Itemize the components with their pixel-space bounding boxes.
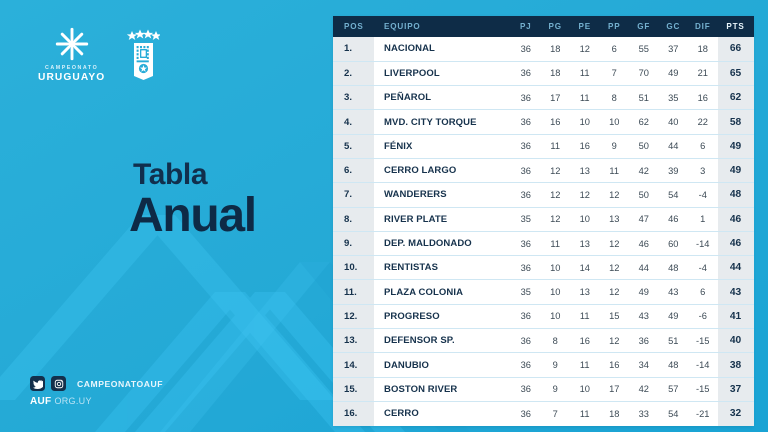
cell-gc: 49 <box>659 61 689 85</box>
table-header-row: POS EQUIPO PJ PG PE PP GF GC DIF PTS <box>333 16 754 37</box>
page-title: Tabla Anual <box>133 160 256 240</box>
cell-gc: 40 <box>659 110 689 134</box>
cell-pe: 13 <box>570 280 600 304</box>
column-header-pp[interactable]: PP <box>600 16 630 37</box>
cell-team: DEP. MALDONADO <box>374 231 511 255</box>
table-row[interactable]: 16.CERRO36711183354-2132 <box>333 401 754 425</box>
cell-pts: 43 <box>718 280 754 304</box>
cell-dif: -14 <box>688 231 718 255</box>
cell-pg: 12 <box>541 207 571 231</box>
footer: CAMPEONATOAUF AUF ORG.UY <box>30 376 163 407</box>
social-row: CAMPEONATOAUF <box>30 376 163 391</box>
cell-pp: 12 <box>600 231 630 255</box>
cell-team: LIVERPOOL <box>374 61 511 85</box>
cell-pos: 13. <box>333 329 374 353</box>
uruguayo-label: URUGUAYO <box>38 72 105 83</box>
cell-pe: 10 <box>570 110 600 134</box>
cell-gc: 35 <box>659 86 689 110</box>
cell-pts: 58 <box>718 110 754 134</box>
table-row[interactable]: 1.NACIONAL361812655371866 <box>333 37 754 61</box>
cell-gc: 46 <box>659 207 689 231</box>
cell-pos: 9. <box>333 231 374 255</box>
cell-gc: 39 <box>659 158 689 182</box>
cell-pos: 2. <box>333 61 374 85</box>
cell-pg: 12 <box>541 158 571 182</box>
cell-gf: 33 <box>629 401 659 425</box>
cell-team: PEÑAROL <box>374 86 511 110</box>
cell-pos: 8. <box>333 207 374 231</box>
cell-team: MVD. CITY TORQUE <box>374 110 511 134</box>
cell-gf: 42 <box>629 158 659 182</box>
table-row[interactable]: 10.RENTISTAS361014124448-444 <box>333 256 754 280</box>
cell-pe: 16 <box>570 329 600 353</box>
table-row[interactable]: 6.CERRO LARGO361213114239349 <box>333 158 754 182</box>
social-handle: CAMPEONATOAUF <box>77 379 163 389</box>
cell-pe: 11 <box>570 304 600 328</box>
cell-gf: 50 <box>629 183 659 207</box>
cell-pe: 10 <box>570 377 600 401</box>
cell-gc: 48 <box>659 256 689 280</box>
cell-pj: 36 <box>511 377 541 401</box>
cell-pos: 1. <box>333 37 374 61</box>
cell-pj: 36 <box>511 353 541 377</box>
cell-pp: 9 <box>600 134 630 158</box>
cell-team: CERRO LARGO <box>374 158 511 182</box>
cell-pts: 49 <box>718 134 754 158</box>
cell-gc: 44 <box>659 134 689 158</box>
cell-pg: 7 <box>541 401 571 425</box>
cell-team: DANUBIO <box>374 353 511 377</box>
cell-gf: 70 <box>629 61 659 85</box>
cell-pj: 36 <box>511 256 541 280</box>
cell-pos: 4. <box>333 110 374 134</box>
table-row[interactable]: 8.RIVER PLATE351210134746146 <box>333 207 754 231</box>
cell-pp: 16 <box>600 353 630 377</box>
column-header-dif[interactable]: DIF <box>688 16 718 37</box>
table-body: 1.NACIONAL3618126553718662.LIVERPOOL3618… <box>333 37 754 426</box>
cell-pg: 9 <box>541 377 571 401</box>
cell-pp: 18 <box>600 401 630 425</box>
cell-pts: 41 <box>718 304 754 328</box>
cell-team: CERRO <box>374 401 511 425</box>
website-row: AUF ORG.UY <box>30 396 163 407</box>
table-row[interactable]: 14.DANUBIO36911163448-1438 <box>333 353 754 377</box>
cell-dif: 22 <box>688 110 718 134</box>
cell-pp: 17 <box>600 377 630 401</box>
cell-pj: 36 <box>511 183 541 207</box>
cell-pg: 18 <box>541 61 571 85</box>
cell-dif: 3 <box>688 158 718 182</box>
cell-pg: 10 <box>541 280 571 304</box>
cell-dif: -14 <box>688 353 718 377</box>
cell-dif: 6 <box>688 280 718 304</box>
cell-pos: 5. <box>333 134 374 158</box>
cell-pe: 10 <box>570 207 600 231</box>
title-line-2: Anual <box>129 192 256 240</box>
cell-pe: 12 <box>570 37 600 61</box>
cell-pts: 32 <box>718 401 754 425</box>
cell-gc: 48 <box>659 353 689 377</box>
cell-pj: 36 <box>511 304 541 328</box>
cell-pts: 37 <box>718 377 754 401</box>
cell-pos: 10. <box>333 256 374 280</box>
column-header-gc[interactable]: GC <box>659 16 689 37</box>
column-header-pj[interactable]: PJ <box>511 16 541 37</box>
cell-pj: 35 <box>511 207 541 231</box>
cell-pts: 40 <box>718 329 754 353</box>
column-header-pe[interactable]: PE <box>570 16 600 37</box>
cell-gf: 62 <box>629 110 659 134</box>
cell-gc: 54 <box>659 183 689 207</box>
cell-dif: 6 <box>688 134 718 158</box>
cell-pj: 36 <box>511 110 541 134</box>
starburst-sun-icon <box>55 27 89 61</box>
cell-team: BOSTON RIVER <box>374 377 511 401</box>
column-header-equipo[interactable]: EQUIPO <box>374 16 511 37</box>
cell-team: RENTISTAS <box>374 256 511 280</box>
cell-pts: 38 <box>718 353 754 377</box>
table-row[interactable]: 9.DEP. MALDONADO361113124660-1446 <box>333 231 754 255</box>
cell-dif: 18 <box>688 37 718 61</box>
cell-gf: 44 <box>629 256 659 280</box>
cell-pg: 12 <box>541 183 571 207</box>
table-row[interactable]: 5.FÉNIX36111695044649 <box>333 134 754 158</box>
table-row[interactable]: 13.DEFENSOR SP.36816123651-1540 <box>333 329 754 353</box>
cell-pp: 12 <box>600 183 630 207</box>
cell-gf: 50 <box>629 134 659 158</box>
cell-pts: 46 <box>718 207 754 231</box>
cell-pj: 36 <box>511 86 541 110</box>
cell-gf: 36 <box>629 329 659 353</box>
campeonato-uruguayo-logo: CAMPEONATO URUGUAYO <box>38 27 105 83</box>
cell-gf: 46 <box>629 231 659 255</box>
table-row[interactable]: 4.MVD. CITY TORQUE3616101062402258 <box>333 110 754 134</box>
cell-team: WANDERERS <box>374 183 511 207</box>
cell-gc: 57 <box>659 377 689 401</box>
cell-dif: -4 <box>688 256 718 280</box>
cell-team: PLAZA COLONIA <box>374 280 511 304</box>
cell-pp: 8 <box>600 86 630 110</box>
cell-gc: 54 <box>659 401 689 425</box>
cell-pe: 16 <box>570 134 600 158</box>
cell-pp: 13 <box>600 207 630 231</box>
cell-pp: 6 <box>600 37 630 61</box>
column-header-pts[interactable]: PTS <box>718 16 754 37</box>
cell-pp: 11 <box>600 158 630 182</box>
cell-pts: 48 <box>718 183 754 207</box>
cell-pg: 10 <box>541 256 571 280</box>
table-row[interactable]: 2.LIVERPOOL361811770492165 <box>333 61 754 85</box>
cell-gf: 47 <box>629 207 659 231</box>
cell-dif: -21 <box>688 401 718 425</box>
column-header-pos[interactable]: POS <box>333 16 374 37</box>
cell-dif: -15 <box>688 329 718 353</box>
cell-gc: 60 <box>659 231 689 255</box>
cell-gf: 34 <box>629 353 659 377</box>
cell-pg: 9 <box>541 353 571 377</box>
cell-pts: 49 <box>718 158 754 182</box>
cell-pe: 11 <box>570 86 600 110</box>
table-row[interactable]: 12.PROGRESO361011154349-641 <box>333 304 754 328</box>
cell-gf: 42 <box>629 377 659 401</box>
site-name: AUF <box>30 396 51 407</box>
cell-gf: 55 <box>629 37 659 61</box>
cell-pe: 12 <box>570 183 600 207</box>
cell-dif: 1 <box>688 207 718 231</box>
cell-pg: 10 <box>541 304 571 328</box>
cell-dif: -4 <box>688 183 718 207</box>
cell-team: PROGRESO <box>374 304 511 328</box>
cell-pp: 12 <box>600 280 630 304</box>
instagram-camera-icon[interactable] <box>51 376 66 391</box>
column-header-gf[interactable]: GF <box>629 16 659 37</box>
cell-pe: 11 <box>570 401 600 425</box>
cell-gc: 37 <box>659 37 689 61</box>
cell-pe: 14 <box>570 256 600 280</box>
cell-pg: 8 <box>541 329 571 353</box>
cell-pp: 7 <box>600 61 630 85</box>
cell-pe: 11 <box>570 61 600 85</box>
cell-pe: 13 <box>570 158 600 182</box>
cell-pos: 16. <box>333 401 374 425</box>
cell-pg: 11 <box>541 134 571 158</box>
cell-pts: 62 <box>718 86 754 110</box>
cell-team: FÉNIX <box>374 134 511 158</box>
table-row[interactable]: 15.BOSTON RIVER36910174257-1537 <box>333 377 754 401</box>
table-row[interactable]: 11.PLAZA COLONIA351013124943643 <box>333 280 754 304</box>
cell-gc: 51 <box>659 329 689 353</box>
cell-pts: 65 <box>718 61 754 85</box>
cell-pp: 15 <box>600 304 630 328</box>
cell-team: NACIONAL <box>374 37 511 61</box>
cell-pe: 13 <box>570 231 600 255</box>
cell-pts: 46 <box>718 231 754 255</box>
cell-pg: 11 <box>541 231 571 255</box>
table-row[interactable]: 3.PEÑAROL361711851351662 <box>333 86 754 110</box>
cell-dif: -6 <box>688 304 718 328</box>
cell-pos: 11. <box>333 280 374 304</box>
cell-dif: -15 <box>688 377 718 401</box>
table-row[interactable]: 7.WANDERERS361212125054-448 <box>333 183 754 207</box>
column-header-pg[interactable]: PG <box>541 16 571 37</box>
cell-team: RIVER PLATE <box>374 207 511 231</box>
cell-pj: 36 <box>511 401 541 425</box>
logo-row: CAMPEONATO URUGUAYO <box>38 27 160 83</box>
cell-pg: 18 <box>541 37 571 61</box>
standings-table: POS EQUIPO PJ PG PE PP GF GC DIF PTS 1.N… <box>333 16 753 426</box>
auf-crest-icon <box>127 28 160 80</box>
cell-pj: 36 <box>511 61 541 85</box>
cell-pos: 15. <box>333 377 374 401</box>
cell-gc: 43 <box>659 280 689 304</box>
cell-pe: 11 <box>570 353 600 377</box>
cell-pp: 12 <box>600 329 630 353</box>
cell-dif: 16 <box>688 86 718 110</box>
cell-pj: 36 <box>511 37 541 61</box>
cell-pg: 17 <box>541 86 571 110</box>
cell-team: DEFENSOR SP. <box>374 329 511 353</box>
cell-pj: 36 <box>511 158 541 182</box>
cell-pp: 10 <box>600 110 630 134</box>
site-domain: ORG.UY <box>54 396 91 406</box>
title-line-1: Tabla <box>133 160 256 190</box>
cell-pj: 36 <box>511 329 541 353</box>
cell-pp: 12 <box>600 256 630 280</box>
cell-pts: 44 <box>718 256 754 280</box>
cell-pj: 36 <box>511 134 541 158</box>
cell-pg: 16 <box>541 110 571 134</box>
cell-pj: 36 <box>511 231 541 255</box>
cell-pos: 6. <box>333 158 374 182</box>
cell-pj: 35 <box>511 280 541 304</box>
cell-gf: 43 <box>629 304 659 328</box>
cell-dif: 21 <box>688 61 718 85</box>
brand-panel: CAMPEONATO URUGUAYO <box>0 0 330 432</box>
cell-pos: 12. <box>333 304 374 328</box>
cell-pos: 14. <box>333 353 374 377</box>
cell-gf: 51 <box>629 86 659 110</box>
cell-pos: 3. <box>333 86 374 110</box>
cell-gc: 49 <box>659 304 689 328</box>
cell-pos: 7. <box>333 183 374 207</box>
twitter-bird-icon[interactable] <box>30 376 45 391</box>
campeonato-label: CAMPEONATO <box>45 65 98 71</box>
cell-gf: 49 <box>629 280 659 304</box>
cell-pts: 66 <box>718 37 754 61</box>
